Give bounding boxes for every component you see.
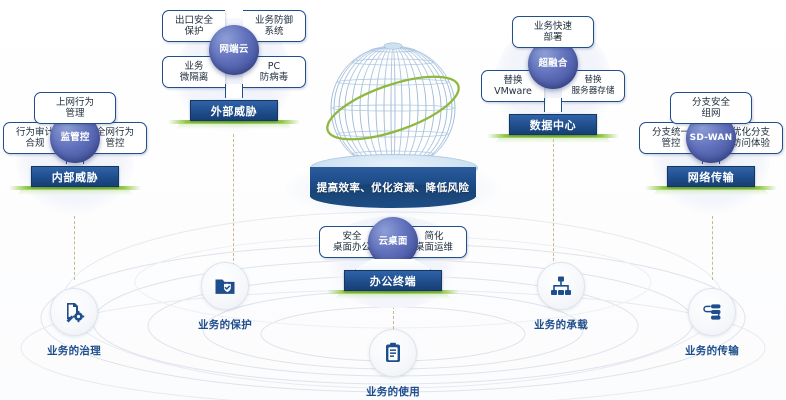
cluster-row: 替换VMware 替换服务器存储 超融合 <box>478 70 628 102</box>
node-disc[interactable] <box>50 288 98 336</box>
central-globe-group: 提高效率、优化资源、降低风险 <box>288 38 498 213</box>
topbox-label: 上网行为管理 <box>54 94 96 123</box>
cluster-data-center: 业务快速部署 替换VMware 替换服务器存储 超融合 数据中心 <box>478 10 628 142</box>
rightbox-label: 替换服务器存储 <box>571 72 616 101</box>
banner-data-center[interactable]: 数据中心 <box>509 114 597 135</box>
core-label: 网端云 <box>219 45 248 55</box>
core-circle-external[interactable]: 网端云 <box>209 25 259 75</box>
core-label: 云桌面 <box>378 237 407 247</box>
node-disc[interactable] <box>201 262 249 310</box>
leftbox-label: 替换VMware <box>493 72 533 101</box>
connector-internal-threat <box>74 216 75 280</box>
topbox-label: 分支安全组网 <box>690 94 732 123</box>
pedestal-label: 提高效率、优化资源、降低风险 <box>288 180 498 195</box>
node-disc[interactable] <box>369 329 417 377</box>
node-label: 业务的治理 <box>20 343 128 358</box>
cluster-office-terminal: 安全桌面办公 简化桌面运维 云桌面 办公终端 <box>318 222 468 298</box>
banner-external-threat[interactable]: 外部威胁 <box>190 100 278 121</box>
toprightbox-label: 业务防御系统 <box>254 12 294 41</box>
stem-wrap <box>159 88 309 100</box>
green-platform <box>645 186 777 194</box>
node-label: 业务的承载 <box>507 317 615 332</box>
node-label: 业务的使用 <box>339 384 447 399</box>
core-label: 超融合 <box>538 59 567 69</box>
org-chart-icon <box>549 274 573 298</box>
node-label: 业务的保护 <box>171 317 279 332</box>
banner-office-terminal[interactable]: 办公终端 <box>344 270 442 291</box>
node-bearing[interactable]: 业务的承载 <box>507 262 615 332</box>
stem-wrap <box>478 102 628 114</box>
banner-network-transport[interactable]: 网络传输 <box>667 166 755 187</box>
cluster-row: 分支统一管控 优化分支访问体验 SD-WAN <box>636 122 786 154</box>
banner-label: 办公终端 <box>370 273 416 289</box>
banner-internal-threat[interactable]: 内部威胁 <box>31 166 119 187</box>
rightbox-label: 优化分支访问体验 <box>731 124 771 153</box>
connector-network-transport <box>712 216 713 280</box>
leftbox-label: 安全桌面办公 <box>332 228 372 257</box>
cluster-row: 业务微隔离 PC防病毒 网端云 <box>159 56 309 88</box>
core-label: 监管控 <box>60 133 89 143</box>
node-label: 业务的传输 <box>658 343 766 358</box>
core-label: SD-WAN <box>690 133 733 143</box>
topbox-sdwan[interactable]: 分支安全组网 <box>670 92 752 124</box>
cluster-row: 行为审计合规 全网行为管控 监管控 <box>0 122 150 154</box>
diagram-canvas: 提高效率、优化资源、降低风险 上网行为管理 行为审计合规 全网行为管控 监管控 <box>0 0 786 400</box>
rightbox-label: 简化桌面运维 <box>414 228 454 257</box>
green-platform <box>327 290 459 298</box>
banner-label: 网络传输 <box>688 169 734 185</box>
cluster-internal-threat: 上网行为管理 行为审计合规 全网行为管控 监管控 内部威胁 <box>0 92 150 194</box>
banner-label: 外部威胁 <box>211 103 257 119</box>
node-transport[interactable]: 业务的传输 <box>658 288 766 358</box>
rightbox-label: PC防病毒 <box>259 58 290 87</box>
topleftbox-label: 出口安全保护 <box>174 12 214 41</box>
topbox-internal[interactable]: 上网行为管理 <box>34 92 116 124</box>
banner-label: 数据中心 <box>530 117 576 133</box>
node-protection[interactable]: 业务的保护 <box>171 262 279 332</box>
topbox-datacenter[interactable]: 业务快速部署 <box>512 16 594 48</box>
connector-external-threat <box>233 134 234 266</box>
node-governance[interactable]: 业务的治理 <box>20 288 128 358</box>
topbox-label: 业务快速部署 <box>532 18 574 47</box>
data-flow-icon <box>700 300 724 324</box>
leftbox-label: 业务微隔离 <box>179 58 210 87</box>
connector-data-center <box>553 134 554 266</box>
leftbox-label: 行为审计合规 <box>15 124 55 153</box>
document-gear-icon <box>62 300 86 324</box>
node-usage[interactable]: 业务的使用 <box>339 329 447 399</box>
banner-label: 内部威胁 <box>52 169 98 185</box>
green-platform <box>9 186 141 194</box>
green-platform <box>487 134 619 142</box>
green-platform <box>168 120 300 128</box>
leftbox-label: 分支统一管控 <box>651 124 691 153</box>
folder-shield-icon <box>213 274 237 298</box>
rightbox-label: 全网行为管控 <box>95 124 135 153</box>
cluster-row: 安全桌面办公 简化桌面运维 云桌面 <box>318 226 468 258</box>
node-disc[interactable] <box>688 288 736 336</box>
cluster-external-threat: 出口安全保护 业务防御系统 业务微隔离 PC防病毒 <box>159 10 309 128</box>
clipboard-icon <box>381 341 405 365</box>
cluster-network-transport: 分支安全组网 分支统一管控 优化分支访问体验 SD-WAN 网络传输 <box>636 92 786 194</box>
node-disc[interactable] <box>537 262 585 310</box>
